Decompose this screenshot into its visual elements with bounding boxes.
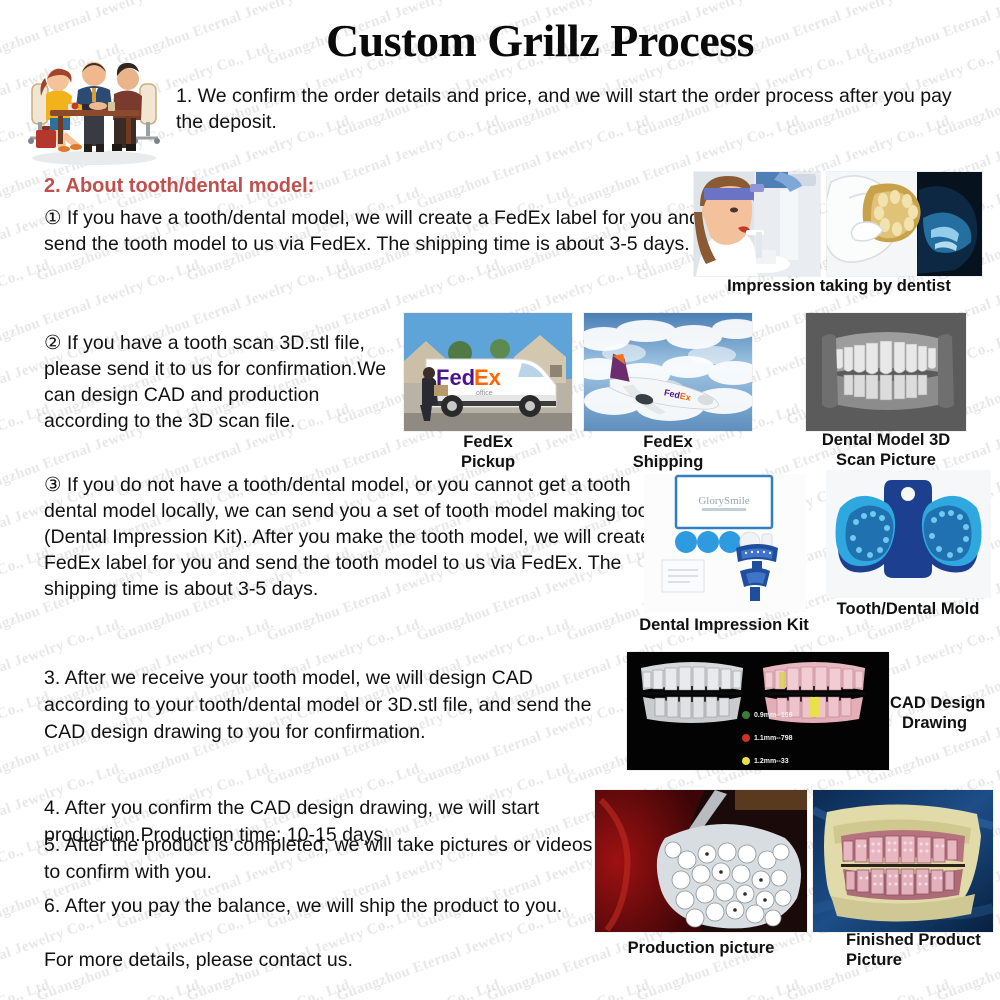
caption-fedex-pickup-line1: FedEx	[404, 432, 572, 452]
cad-legend-item-1: 1.1mm--798	[742, 734, 793, 742]
caption-cad-design-line1: CAD Design	[890, 693, 998, 713]
caption-impression-by-dentist: Impression taking by dentist	[694, 276, 984, 296]
step-1-text: 1. We confirm the order details and pric…	[176, 84, 966, 135]
caption-production-picture: Production picture	[595, 938, 807, 958]
contact-text: For more details, please contact us.	[44, 948, 604, 974]
cad-legend-item-2: 1.2mm--33	[742, 757, 789, 765]
svg-text:GlorySmile: GlorySmile	[698, 495, 749, 507]
caption-fedex-shipping-line1: FedEx	[584, 432, 752, 452]
business-meeting-illustration	[14, 48, 174, 166]
step-6-text: 6. After you pay the balance, we will sh…	[44, 893, 589, 920]
caption-fedex-shipping-line2: Shipping	[584, 452, 752, 472]
svg-text:Ex: Ex	[474, 365, 502, 390]
cad-legend-dot-red	[742, 734, 750, 742]
step-2-item-1-text: ① If you have a tooth/dental model, we w…	[44, 205, 702, 257]
step-2-item-3-text: ③ If you do not have a tooth/dental mode…	[44, 472, 669, 602]
step-2-heading: 2. About tooth/dental model:	[44, 173, 544, 199]
step-3-text: 3. After we receive your tooth model, we…	[44, 665, 614, 746]
step-5-text: 5. After the product is completed, we wi…	[44, 832, 604, 886]
tooth-dental-mold-photo	[826, 470, 991, 598]
step-2-item-2-text: ② If you have a tooth scan 3D.stl file, …	[44, 330, 409, 434]
dentist-scanning-photo	[694, 172, 820, 276]
cad-legend-dot-yellow	[742, 757, 750, 765]
cad-legend-label-2: 1.2mm--33	[754, 758, 789, 765]
finished-product-photo	[813, 790, 993, 932]
caption-dental-scan-line2: Scan Picture	[806, 450, 966, 470]
caption-cad-design-line2: Drawing	[902, 713, 1000, 733]
dental-model-xray-photo	[827, 172, 982, 276]
page-title: Custom Grillz Process	[190, 14, 890, 67]
cad-legend-dot-green	[742, 711, 750, 719]
dental-impression-kit-photo: GlorySmile	[644, 474, 806, 612]
caption-finished-product-line2: Picture	[846, 950, 1000, 970]
caption-tooth-dental-mold: Tooth/Dental Mold	[816, 599, 1000, 619]
cad-legend-item-0: 0.9mm--159	[742, 711, 793, 719]
production-photo	[595, 790, 807, 932]
fedex-shipping-photo: Fed Ex	[584, 313, 752, 431]
cad-legend-label-0: 0.9mm--159	[754, 712, 793, 719]
fedex-pickup-photo: Fed Ex office	[404, 313, 572, 431]
caption-finished-product-line1: Finished Product	[846, 930, 1000, 950]
caption-impression-kit: Dental Impression Kit	[614, 615, 834, 635]
caption-dental-scan-line1: Dental Model 3D	[806, 430, 966, 450]
caption-fedex-pickup-line2: Pickup	[404, 452, 572, 472]
svg-text:office: office	[476, 390, 493, 397]
dental-3d-scan-photo	[806, 313, 966, 431]
cad-legend-label-1: 1.1mm--798	[754, 735, 793, 742]
